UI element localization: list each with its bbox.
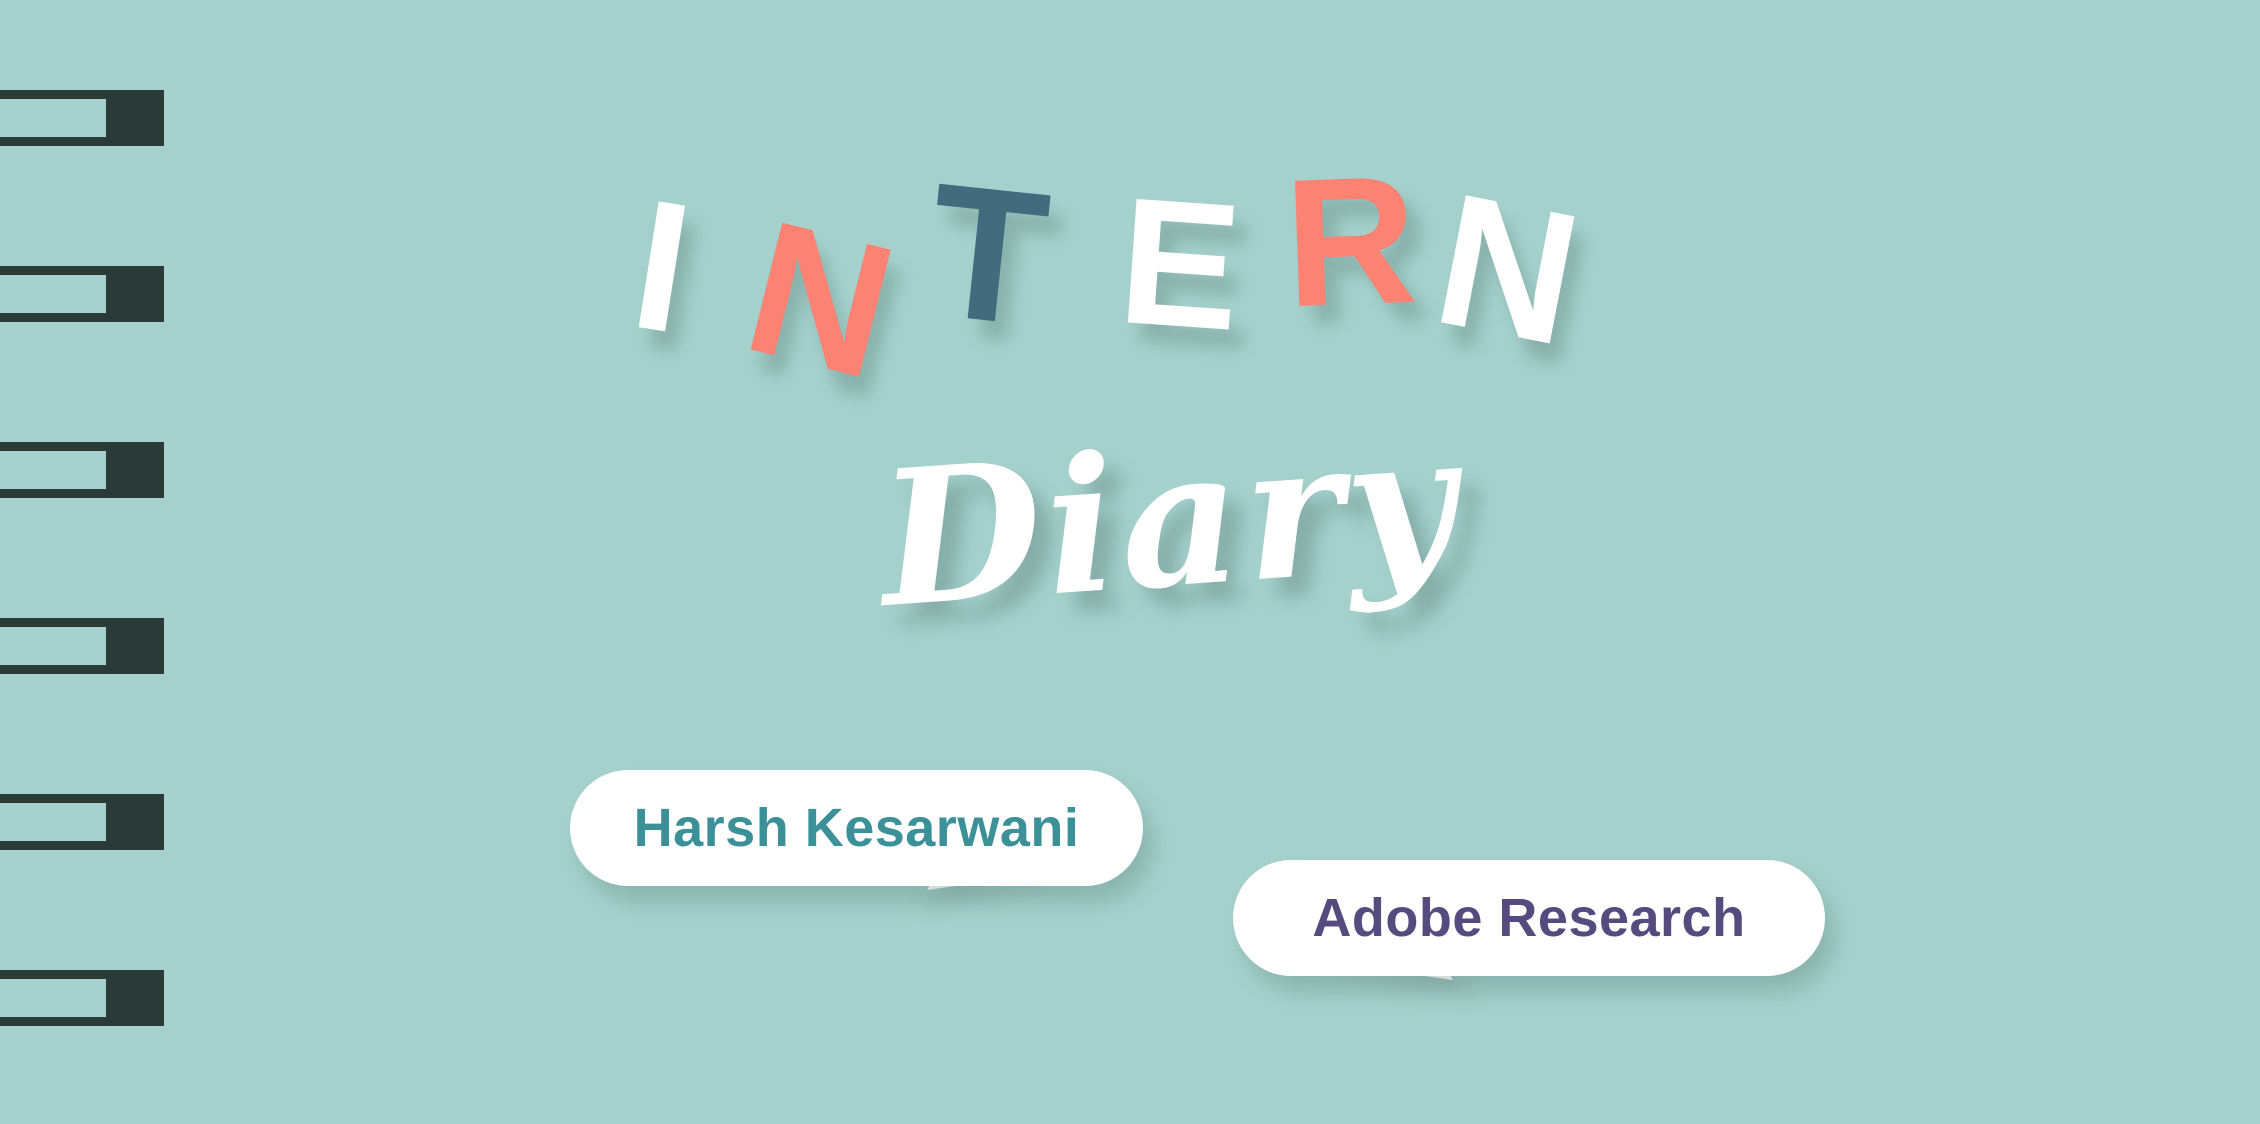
title-letter-n2: N bbox=[1423, 164, 1592, 374]
title-script-diary: Diary bbox=[873, 390, 1465, 649]
binder-ring bbox=[0, 90, 164, 146]
intern-diary-title-card: I N T E R N Diary Harsh Kesarwani Adobe … bbox=[0, 0, 2260, 1124]
speech-bubble-label-harsh: Harsh Kesarwani bbox=[634, 797, 1080, 859]
binder-ring bbox=[0, 618, 164, 674]
binder-ring bbox=[0, 970, 164, 1026]
title-letter-r: R bbox=[1282, 148, 1420, 334]
title-letter-e: E bbox=[1114, 171, 1246, 359]
speech-bubble-harsh[interactable]: Harsh Kesarwani bbox=[570, 770, 1143, 886]
title-letter-n1: N bbox=[731, 191, 910, 409]
binder-ring bbox=[0, 266, 164, 322]
speech-bubble-label-adobe: Adobe Research bbox=[1312, 887, 1745, 949]
speech-bubble-adobe[interactable]: Adobe Research bbox=[1233, 860, 1825, 976]
binder-ring bbox=[0, 442, 164, 498]
title-letter-i: I bbox=[622, 172, 702, 363]
title-letter-t: T bbox=[920, 154, 1055, 355]
binder-ring bbox=[0, 794, 164, 850]
